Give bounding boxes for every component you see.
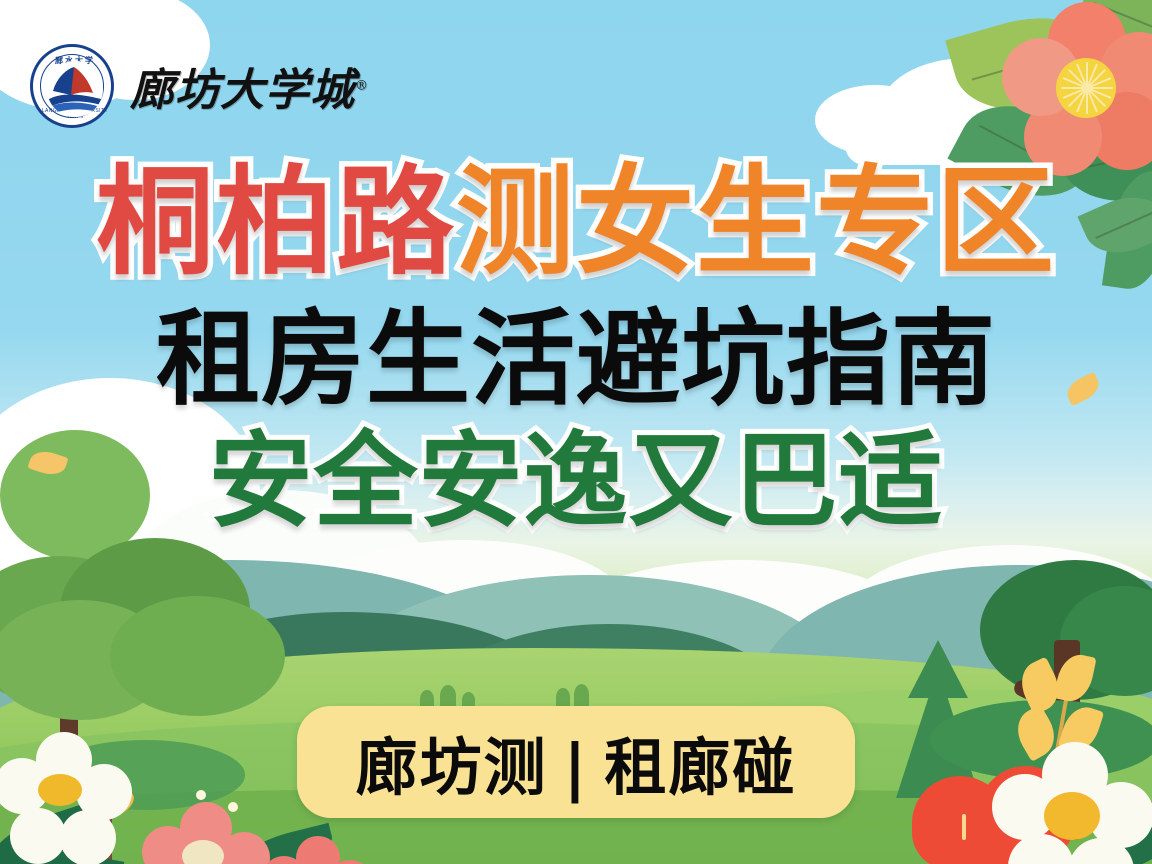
white-daisy-icon (1000, 748, 1150, 864)
daisy-petal (60, 810, 116, 864)
poster-canvas: 廊水大学 LANGFANG UNIVERSITY TOWN 廊坊大学城® 桐柏路… (0, 0, 1152, 864)
headline-line-1-orange: 测女生专区 (456, 153, 1056, 291)
headline-line-2: 租房生活避坑指南 (0, 305, 1152, 414)
headline-line-1-red: 桐柏路 (96, 153, 456, 291)
headline-block: 桐柏路测女生专区 租房生活避坑指南 安全安逸又巴适 (0, 160, 1152, 537)
shrub-icon (556, 688, 570, 706)
conifer-tree-top-icon (908, 640, 968, 698)
headline-line-3: 安全安逸又巴适 (0, 428, 1152, 537)
shrub-icon (574, 684, 589, 706)
tree-canopy-left-5 (110, 596, 285, 716)
footer-tag-pill[interactable]: 廊坊测|租廊碰 (297, 706, 855, 818)
flower-center (182, 840, 224, 864)
poppy-stamen (962, 814, 966, 840)
tiny-flower-icon (228, 802, 238, 812)
pink-flower-icon (268, 840, 368, 864)
footer-tag-right: 租廊碰 (604, 731, 796, 804)
daisy-center (1044, 792, 1100, 840)
footer-tag-separator: | (564, 731, 589, 804)
tiny-flower-icon (196, 790, 206, 800)
flower-stamen (1054, 56, 1118, 120)
footer-tag-text: 廊坊测|租廊碰 (356, 717, 797, 807)
pink-flower-icon (148, 808, 268, 864)
daisy-center (38, 774, 82, 806)
flower-petal (296, 836, 340, 864)
crest-mountain-wave-mark (47, 61, 103, 117)
white-daisy-icon (2, 736, 132, 864)
daisy-petal (10, 808, 66, 864)
footer-tag-left: 廊坊测 (356, 731, 548, 804)
brand-name-text: 廊坊大学城 (130, 65, 355, 116)
headline-line-1: 桐柏路测女生专区 (0, 160, 1152, 285)
brand-name: 廊坊大学城® (130, 54, 369, 118)
brand-logo-row: 廊水大学 LANGFANG UNIVERSITY TOWN 廊坊大学城® (30, 44, 369, 128)
registered-trademark-icon: ® (355, 78, 369, 93)
university-crest-icon: 廊水大学 LANGFANG UNIVERSITY TOWN (30, 44, 114, 128)
shrub-icon (440, 685, 456, 707)
sprig-leaf (1053, 651, 1096, 705)
